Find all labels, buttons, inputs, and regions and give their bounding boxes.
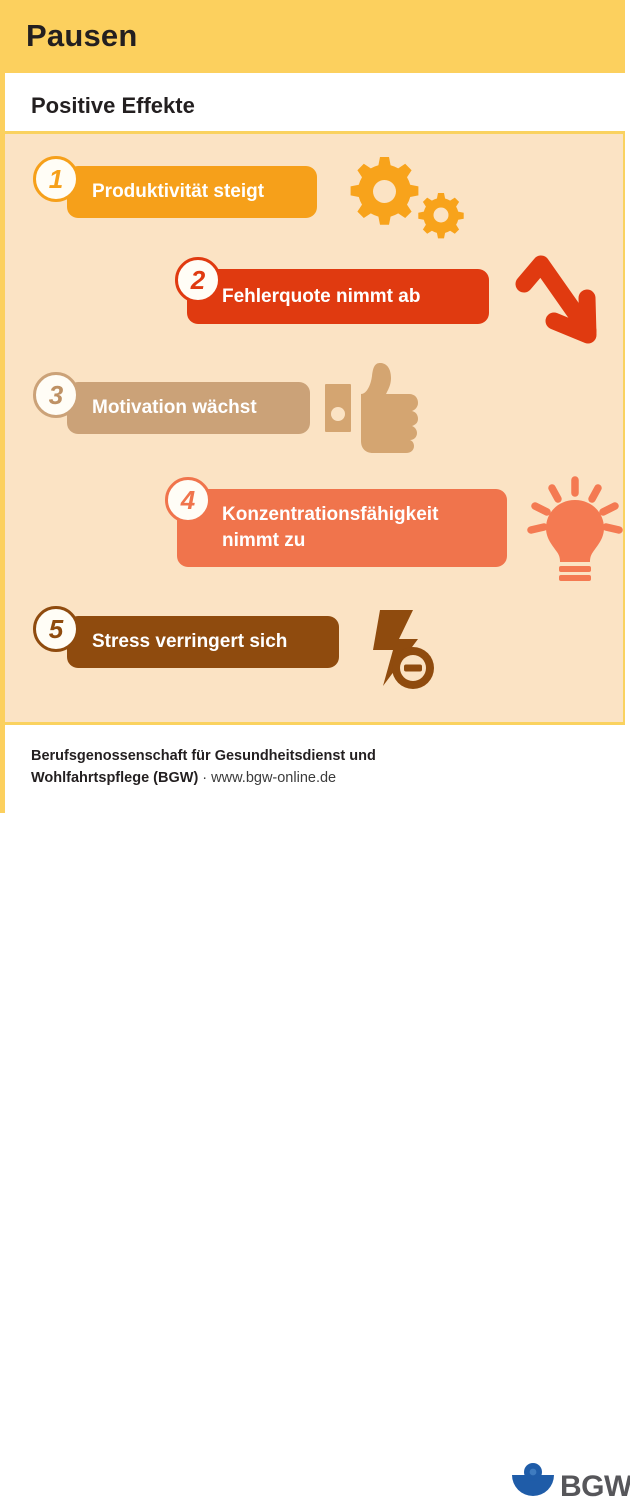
list-item-4: Konzentrationsfähigkeit nimmt zu 4 bbox=[5, 464, 623, 594]
item-bar-4[interactable]: Konzentrationsfähigkeit nimmt zu bbox=[177, 489, 507, 567]
item-label-3: Motivation wächst bbox=[92, 395, 257, 421]
item-label-4: Konzentrationsfähigkeit nimmt zu bbox=[222, 502, 438, 554]
bgw-logo-wordmark: BGW bbox=[560, 1470, 630, 1504]
item-bar-1[interactable]: Produktivität steigt bbox=[67, 166, 317, 218]
list-item-1: Produktivität steigt 1 bbox=[5, 134, 623, 244]
item-badge-1: 1 bbox=[33, 156, 79, 202]
item-label-2: Fehlerquote nimmt ab bbox=[222, 284, 420, 310]
footer-separator: · bbox=[198, 770, 211, 786]
item-badge-3: 3 bbox=[33, 372, 79, 418]
item-number-4: 4 bbox=[181, 485, 195, 516]
infographic-poster: Pausen Positive Effekte Produktivität st… bbox=[0, 0, 630, 813]
item-label-4-line2: nimmt zu bbox=[222, 528, 438, 554]
item-label-5: Stress verringert sich bbox=[92, 629, 287, 655]
item-bar-5[interactable]: Stress verringert sich bbox=[67, 616, 339, 668]
gears-icon bbox=[333, 149, 473, 249]
footer-url[interactable]: www.bgw-online.de bbox=[211, 770, 336, 786]
stress-bolt-icon bbox=[355, 596, 450, 701]
page-subtitle: Positive Effekte bbox=[31, 93, 195, 119]
subtitle-band: Positive Effekte bbox=[0, 73, 625, 131]
header-band: Pausen bbox=[0, 0, 625, 73]
bgw-logo-icon bbox=[510, 1463, 556, 1506]
list-item-5: Stress verringert sich 5 bbox=[5, 594, 623, 704]
list-item-3: Motivation wächst 3 bbox=[5, 357, 623, 464]
thumbs-up-icon bbox=[317, 362, 427, 459]
page-title: Pausen bbox=[26, 18, 137, 54]
footer-line2-org: Wohlfahrtspflege (BGW) bbox=[31, 770, 198, 786]
item-bar-3[interactable]: Motivation wächst bbox=[67, 382, 310, 434]
item-badge-2: 2 bbox=[175, 257, 221, 303]
item-number-2: 2 bbox=[191, 265, 205, 296]
footer: Berufsgenossenschaft für Gesundheitsdien… bbox=[0, 725, 625, 813]
lightbulb-icon bbox=[525, 476, 625, 591]
item-number-3: 3 bbox=[49, 380, 63, 411]
item-number-5: 5 bbox=[49, 614, 63, 645]
item-badge-4: 4 bbox=[165, 477, 211, 523]
item-label-4-line1: Konzentrationsfähigkeit bbox=[222, 502, 438, 528]
item-bar-2[interactable]: Fehlerquote nimmt ab bbox=[187, 269, 489, 324]
item-badge-5: 5 bbox=[33, 606, 79, 652]
footer-line1: Berufsgenossenschaft für Gesundheitsdien… bbox=[31, 748, 376, 764]
footer-text: Berufsgenossenschaft für Gesundheitsdien… bbox=[31, 745, 461, 789]
content-area: Produktivität steigt 1 Fehlerquote bbox=[0, 131, 625, 725]
arrow-down-icon bbox=[510, 249, 615, 354]
item-label-1: Produktivität steigt bbox=[92, 179, 264, 205]
item-number-1: 1 bbox=[49, 164, 63, 195]
list-item-2: Fehlerquote nimmt ab 2 bbox=[5, 244, 623, 357]
